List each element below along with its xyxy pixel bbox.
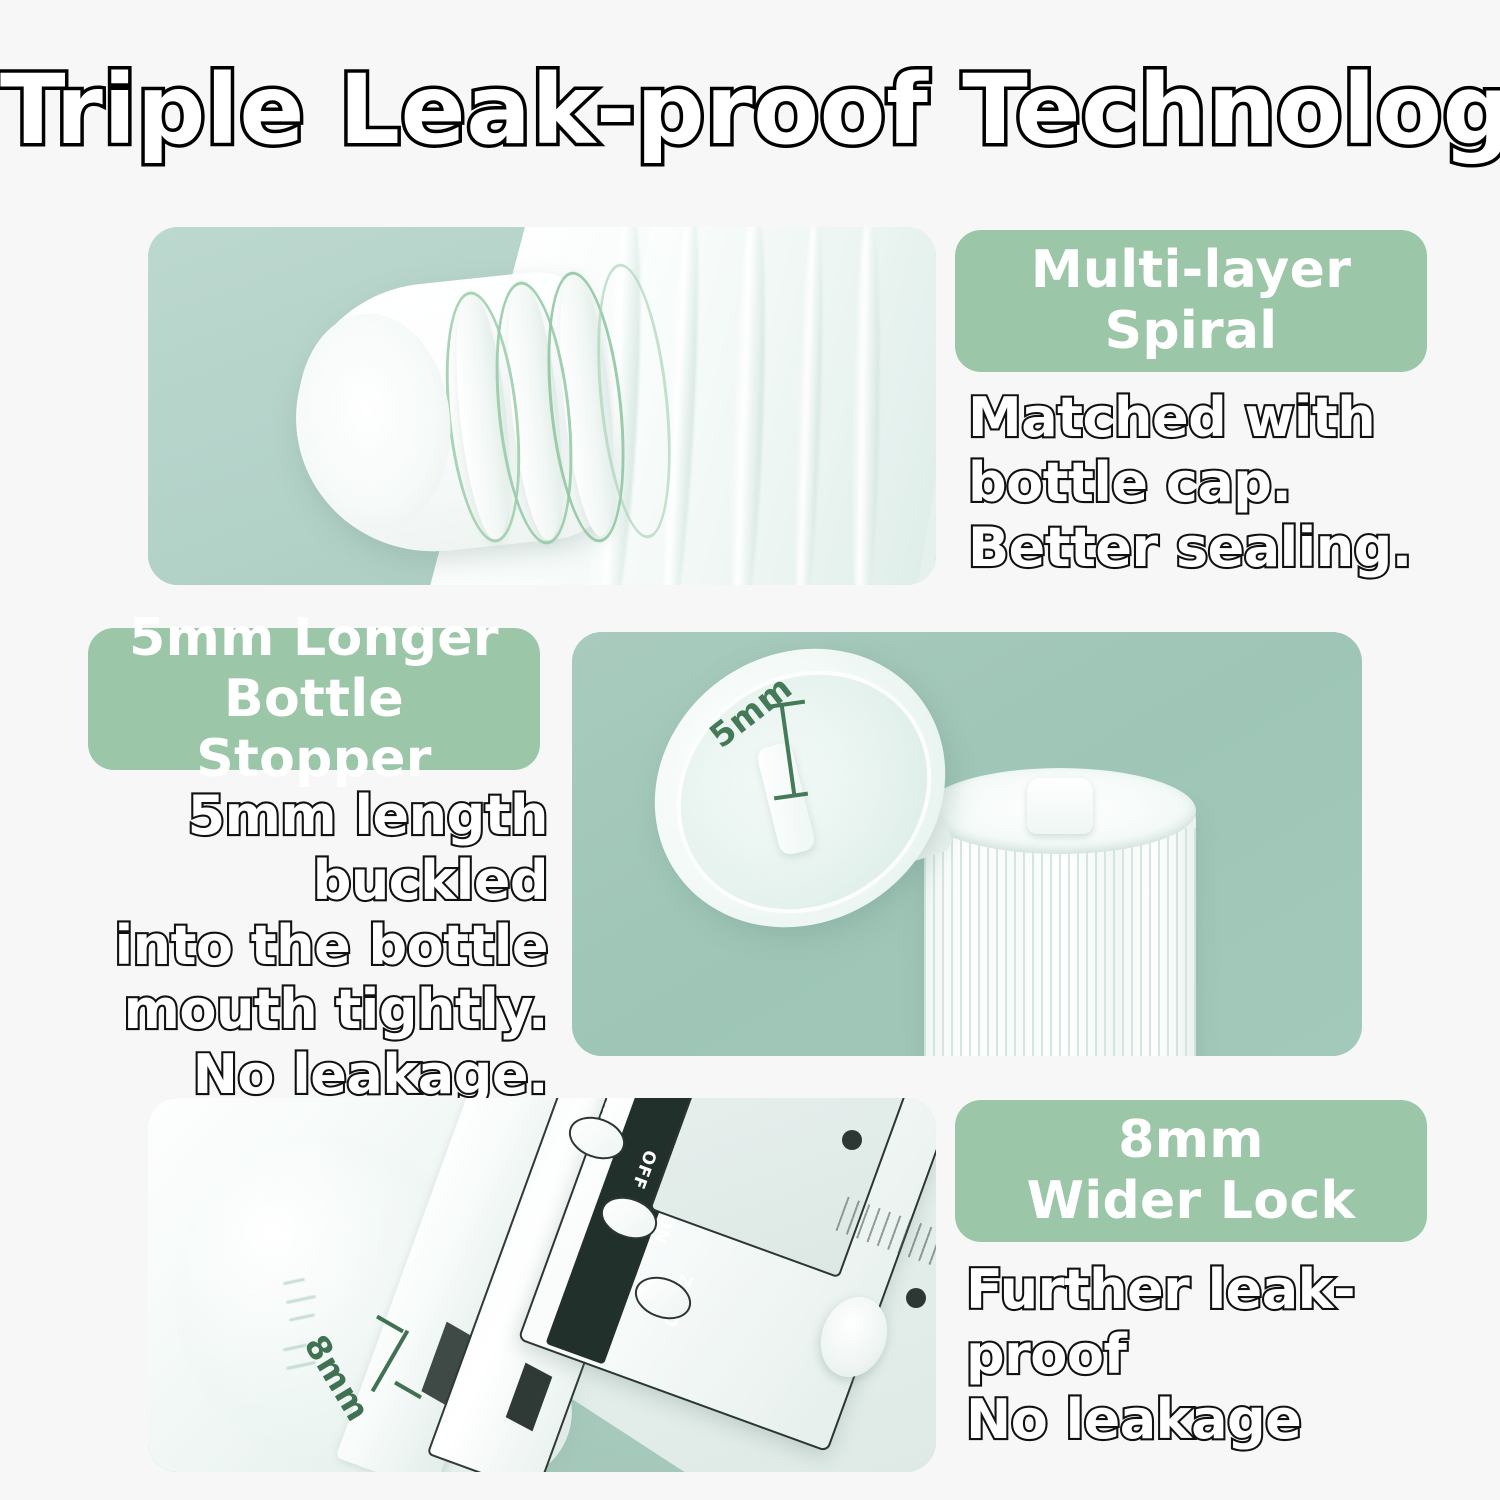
page-title-container: Triple Leak-proof Technology (0, 58, 1500, 164)
feature-photo-wider-lock: inch/mm OFF ON ZERO 8.06 8mm (148, 1098, 936, 1472)
feature-body-longer-bottle-stopper: 5mm length buckled into the bottle mouth… (8, 784, 548, 1108)
bottle-spout-nub (1027, 778, 1093, 834)
feature-photo-longer-bottle-stopper: 5mm (572, 632, 1362, 1056)
feature-badge-wider-lock: 8mm Wider Lock (955, 1100, 1427, 1242)
caliper-screw (906, 1288, 926, 1308)
feature-badge-multi-layer-spiral: Multi-layer Spiral (955, 230, 1427, 372)
bottle-body-ribbing (924, 828, 1196, 1056)
feature-badge-label: Multi-layer Spiral (1017, 234, 1365, 368)
feature-body-wider-lock: Further leak-proof No leakage (966, 1258, 1446, 1452)
page-title: Triple Leak-proof Technology (0, 58, 1500, 164)
feature-photo-multi-layer-spiral (148, 227, 936, 585)
caliper-screw (842, 1130, 862, 1150)
feature-body-multi-layer-spiral: Matched with bottle cap. Better sealing. (968, 386, 1438, 580)
feature-badge-label: 5mm Longer Bottle Stopper (88, 602, 540, 796)
feature-badge-longer-bottle-stopper: 5mm Longer Bottle Stopper (88, 628, 540, 770)
feature-badge-label: 8mm Wider Lock (1013, 1104, 1370, 1238)
